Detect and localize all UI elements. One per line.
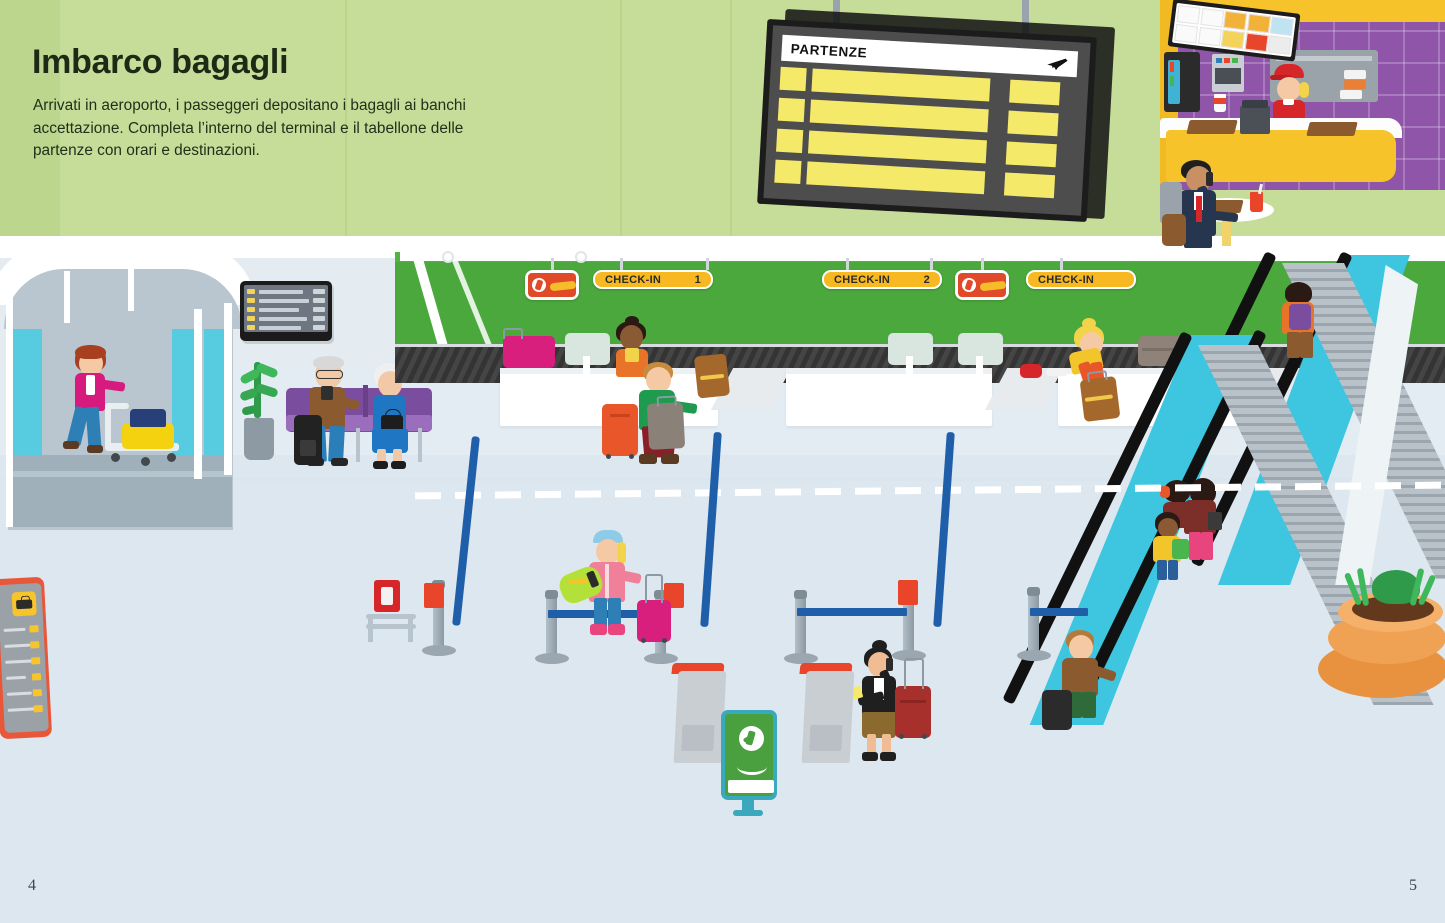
menu-item-hotdrink [1268,35,1292,55]
monitor-stand [583,356,590,374]
leg [328,426,345,463]
food-court [1160,0,1445,248]
menu-text-column [1200,8,1224,28]
luggage-trolley [105,395,183,470]
soda-cup [1250,192,1263,212]
leg [1184,232,1212,248]
barrier-strap [1030,608,1088,616]
shoe [391,461,406,469]
frame-mullion [194,309,202,479]
barrier-post-base [535,653,569,664]
airline-logo [528,273,576,297]
glasses-icon [316,370,343,379]
menu-text-column [1198,27,1222,47]
menu-text-column [1174,24,1198,44]
barrier-post-base [422,645,456,656]
menu-item-soda [1244,32,1268,52]
page-number-left: 4 [28,877,36,895]
kiosk-screen[interactable] [809,725,842,751]
checkin-number: 2 [924,274,930,286]
barrier-strap [797,608,907,616]
airplane-icon [1046,55,1069,71]
shirt-white [86,375,95,395]
frame-mullion [128,265,134,311]
necktie [1196,196,1202,222]
barrier-post-base [1017,650,1051,661]
board-frame: PARTENZE [757,19,1097,222]
truss-node-1 [442,251,454,263]
suitcase-black-highlight [300,440,316,456]
jacket-zip [605,564,609,598]
page-subtitle: Arrivati in aeroporto, i passeggeri depo… [33,95,503,163]
sign-stem [981,258,984,270]
barrier-post [1028,592,1039,654]
airline-logo-sign-2 [955,270,1009,300]
frame-mullion [64,271,70,323]
airline-logo-sign-1 [525,270,579,300]
counter-lip [786,368,992,374]
ad-caption-strip [728,780,774,793]
airline-logo [958,273,1006,297]
kiosk-screen[interactable] [681,725,714,751]
page-title: Imbarco bagagli [32,43,288,82]
counter-tray-2 [1306,122,1357,136]
truss-node-2 [575,251,587,263]
mobile-phone-icon [1206,172,1213,186]
suitcase-magenta-girl [637,600,671,642]
sign-stem [846,258,849,270]
rack-sign-red [374,580,400,612]
escalator-rider-child [1148,512,1192,582]
barrier-warning-sign [424,583,444,608]
cash-register [1240,106,1270,134]
suitcase-magenta-on-belt [503,336,555,368]
frame-mullion [6,279,13,527]
boot [608,624,625,635]
checkin-label: CHECK-IN [834,274,890,286]
ponytail-blonde [617,542,626,564]
shoe [331,458,348,466]
shoe-heel [862,752,878,761]
shoe [87,445,103,453]
leg [1287,332,1300,358]
ad-logo-circle [739,726,764,751]
menu-item-drink [1270,17,1294,37]
collar-dark [321,386,333,400]
suitcase-black-escalator [1042,690,1072,730]
scarf [625,348,639,362]
board-cell-destination [806,161,985,194]
checkin-counter-2 [786,368,992,426]
leg [86,407,102,448]
board-face: PARTENZE [763,25,1090,215]
baggage-icon [12,591,37,616]
board-cell-time [776,129,803,153]
board-cell-time [778,98,805,122]
menu-item-burger [1246,14,1270,34]
shoe [661,454,679,464]
board-cell-gate [1009,80,1060,106]
monitor-stand [976,356,983,374]
directory-board[interactable] [0,577,52,740]
checkin-number: 1 [695,274,701,286]
checkin-label: CHECK-IN [605,274,661,286]
barrier-warning-sign [898,580,918,605]
board-cell-time [779,67,806,91]
sign-stem [620,258,623,270]
barrier-post-base [644,653,678,664]
barrier-post-top [1027,587,1040,596]
potted-plant [236,360,284,465]
ad-sign-foot [733,810,763,816]
flight-info-screen [240,281,332,341]
shoe-heel [880,752,896,761]
board-cell-gate [1004,172,1055,198]
head [1158,518,1178,538]
plant-leaves [240,360,282,422]
board-cell-destination [810,99,989,132]
sign-stem [551,258,554,270]
hair-gray [313,356,344,369]
barrier-post [546,595,557,657]
paper-cup [1214,94,1226,112]
drinks-fridge [1164,52,1200,112]
shoulder-bag [1208,512,1222,530]
handbag-strap [385,409,401,419]
head [1277,77,1301,101]
suitcase-brown-small [1162,214,1186,246]
sign-stem [930,258,933,270]
board-cell-destination [811,69,990,102]
board-cell-gate [1007,111,1058,137]
monitor-stand [906,356,913,374]
escalator-rider-top [1278,282,1324,360]
collar [1283,99,1294,105]
head [620,325,643,350]
shoe [373,461,388,469]
barrier-post [795,595,806,657]
board-header-label: PARTENZE [790,41,867,60]
leg [1300,332,1313,358]
menu-text-column [1177,5,1201,25]
suitcase-gray-being-lifted [647,402,685,450]
barrier-post-top [794,590,807,599]
departure-board[interactable]: PARTENZE [752,0,1117,222]
mobile-phone-icon [886,658,893,671]
shoe [639,454,657,464]
leg [1157,560,1167,580]
backpack-green [1172,539,1189,559]
advertising-sign[interactable] [721,710,777,800]
screen-content [244,285,328,332]
menu-item-burger [1223,11,1247,31]
hair-front [75,345,106,359]
checkin-sign-2[interactable]: CHECK-IN 2 [822,270,942,289]
ponytail [1299,82,1309,98]
illustration-page: PARTENZE [0,0,1445,923]
board-cell-gate [1006,141,1057,167]
coffee-machine [1212,54,1244,92]
backpack-purple [1289,304,1311,330]
head [1069,635,1093,660]
self-checkin-kiosk-1[interactable] [674,671,727,763]
board-cell-destination [808,130,987,163]
leg [1168,560,1178,580]
page-number-right: 5 [1409,877,1417,895]
glass-pane-right2 [204,311,226,476]
leg [1201,532,1213,560]
frame-mullion [224,303,232,475]
directory-panel [0,583,49,733]
trolley-rack [364,580,422,648]
bag-navy [130,409,166,427]
leg [1082,692,1096,718]
boot [590,624,607,635]
self-checkin-kiosk-2[interactable] [802,671,855,763]
entrance-arch-inner [4,269,242,329]
counter-tray-1 [1186,120,1237,134]
sign-stem [706,258,709,270]
suitcase-orange [602,404,638,456]
ad-script-text [737,758,767,775]
menu-item-fries [1221,29,1245,49]
barrier-post-top [545,590,558,599]
shoe [63,441,79,449]
board-cell-time [774,160,801,184]
hair-dark [1285,282,1312,304]
suitcase-red [895,686,931,738]
checkin-sign-1[interactable]: CHECK-IN 1 [593,270,713,289]
